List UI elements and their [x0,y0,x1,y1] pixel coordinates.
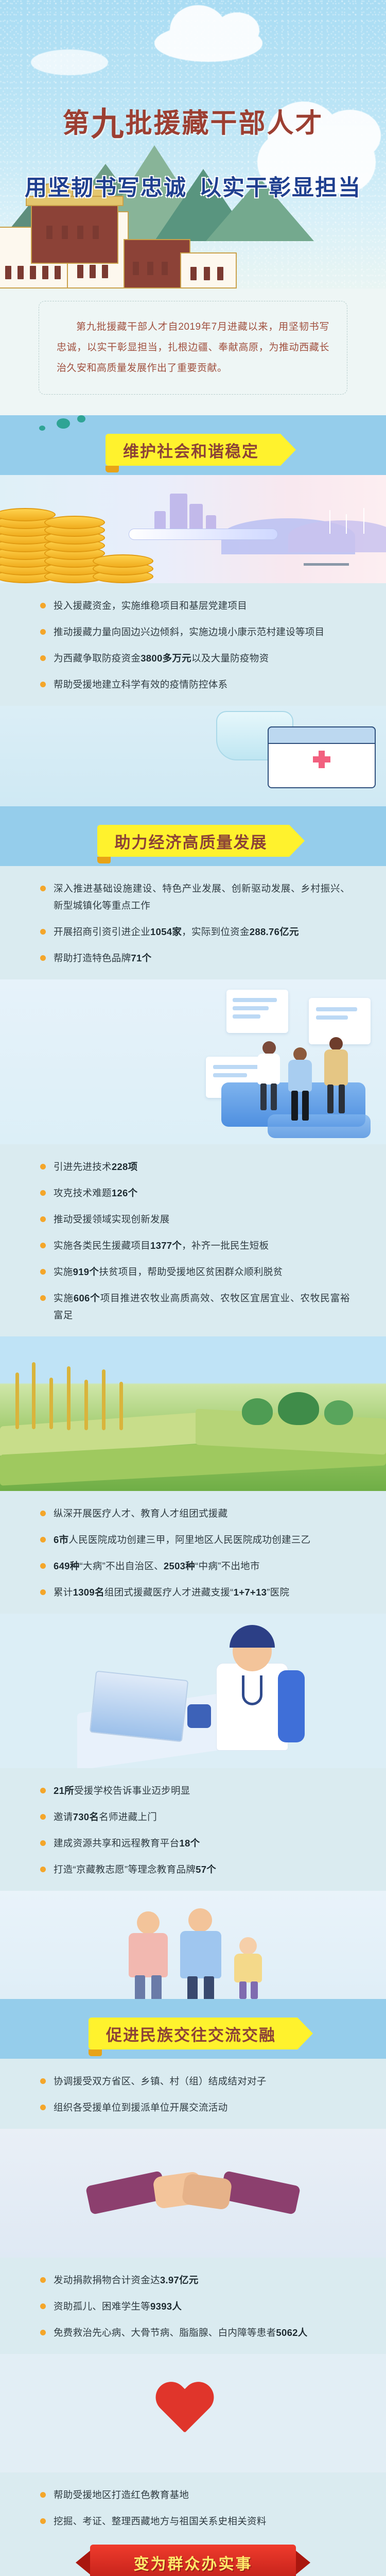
subtitle-right: 以实干彰显担当 [199,176,361,200]
title-rest: 批援藏干部人才 [126,109,324,139]
list-item: 协调援受双方省区、乡镇、村（组）结成结对对子 [36,2068,350,2094]
list-economy-b: 引进先进技术228项 攻克技术难题126个 推动受援领域实现创新发展 实施各类民… [36,1146,350,1331]
list-item: 挖掘、考证、整理西藏地方与祖国关系史相关资料 [36,2508,350,2534]
red-ribbon-label: 变为群众办实事 [134,2551,253,2574]
list-item: 为西藏争取防疫资金3800多万元以及大量防疫物资 [36,645,350,671]
section-banner-social-stability: 维护社会和谐稳定 [106,434,280,466]
panel-ethnic-unity-b: 发动捐款捐物合计资金达3.97亿元 资助孤儿、困难学生等9393人 免费救治先心… [0,2258,386,2354]
list-item: 实施各类民生援藏项目1377个，补齐一批民生短板 [36,1232,350,1259]
list-item: 投入援藏资金，实施维稳项目和基层党建项目 [36,592,350,619]
panel-ethnic-unity-a: 协调援受双方省区、乡镇、村（组）结成结对对子 组织各受援单位到援派单位开展交流活… [0,2059,386,2129]
red-heart-illustration [0,2354,386,2472]
list-ethnic-unity-b: 发动捐款捐物合计资金达3.97亿元 资助孤儿、困难学生等9393人 免费救治先心… [36,2260,350,2349]
panel-economy-a: 深入推进基础设施建设、特色产业发展、创新驱动发展、乡村振兴、新型城镇化等重点工作… [0,866,386,979]
list-item: 649种“大病”不出自治区、2503种“中病”不出地市 [36,1553,350,1579]
page-subtitle: 用坚韧书写忠诚以实干彰显担当 [0,170,386,202]
handshake-illustration [0,2129,386,2258]
list-item: 实施606个项目推进农牧业高质高效、农牧区宜居宜业、农牧民富裕富足 [36,1285,350,1328]
medical-kit-illustration [0,706,386,806]
list-economy-health: 纵深开展医疗人才、教育人才组团式援藏 6市人民医院成功创建三甲，阿里地区人民医院… [36,1493,350,1608]
coins-city-illustration [0,475,386,583]
list-item: 推动援藏力量向固边兴边倾斜，实施边境小康示范村建设等项目 [36,619,350,645]
list-item: 引进先进技术228项 [36,1154,350,1180]
list-item: 推动受援领域实现创新发展 [36,1206,350,1232]
list-item: 打造“京藏教志愿”等理念教育品牌57个 [36,1856,350,1883]
panel-economy-b: 引进先进技术228项 攻克技术难题126个 推动受援领域实现创新发展 实施各类民… [0,1144,386,1336]
panel-social-stability: 投入援藏资金，实施维稳项目和基层党建项目 推动援藏力量向固边兴边倾斜，实施边境小… [0,583,386,706]
section-banner-label: 维护社会和谐稳定 [123,438,259,462]
list-item: 深入推进基础设施建设、特色产业发展、创新驱动发展、乡村振兴、新型城镇化等重点工作 [36,875,350,919]
list-item: 攻克技术难题126个 [36,1180,350,1206]
intro-paragraph: 第九批援藏干部人才自2019年7月进藏以来，用坚韧书写忠诚，以实干彰显担当，扎根… [39,301,347,395]
title-prefix: 第 [62,109,91,139]
panel-ethnic-unity-c: 帮助受援地区打造红色教育基地 挖掘、考证、整理西藏地方与祖国关系史相关资料 变为… [0,2472,386,2576]
doctor-illustration [0,1614,386,1768]
list-item: 6市人民医院成功创建三甲，阿里地区人民医院成功创建三乙 [36,1527,350,1553]
section-banner-economy: 助力经济高质量发展 [97,825,289,857]
cloud-icon [31,49,108,75]
farmland-illustration [0,1336,386,1491]
page-title: 第九批援藏干部人才 [0,98,386,145]
red-ribbon-banner: 变为群众办实事 [90,2545,296,2576]
list-ethnic-unity-a: 协调援受双方省区、乡镇、村（组）结成结对对子 组织各受援单位到援派单位开展交流活… [36,2061,350,2124]
panel-economy-health: 纵深开展医疗人才、教育人才组团式援藏 6市人民医院成功创建三甲，阿里地区人民医院… [0,1491,386,1614]
list-item: 纵深开展医疗人才、教育人才组团式援藏 [36,1500,350,1527]
heart-icon [154,2383,215,2438]
infographic-page: 第九批援藏干部人才 用坚韧书写忠诚以实干彰显担当 第九批援藏干部人才自2019年… [0,0,386,2576]
family-illustration [0,1891,386,1999]
list-item: 累计1309名组团式援藏医疗人才进藏支援“1+7+13”医院 [36,1579,350,1605]
list-item: 邀请730名名师进藏上门 [36,1804,350,1830]
section-banner-ethnic-unity: 促进民族交往交流交融 [89,2018,297,2049]
cloud-icon [154,25,262,62]
section-band-social-stability: 维护社会和谐稳定 [0,415,386,475]
list-item: 帮助受援地区打造红色教育基地 [36,2482,350,2508]
list-item: 开展招商引资引进企业1054家，实际到位资金288.76亿元 [36,919,350,945]
section-band-ethnic-unity: 促进民族交往交流交融 [0,1999,386,2059]
list-item: 21所受援学校告诉事业迈步明显 [36,1777,350,1804]
list-ethnic-unity-c: 帮助受援地区打造红色教育基地 挖掘、考证、整理西藏地方与祖国关系史相关资料 [36,2475,350,2537]
list-item: 实施919个扶贫项目，帮助受援地区贫困群众顺利脱贫 [36,1259,350,1285]
list-item: 帮助打造特色品牌71个 [36,945,350,971]
intro-section: 第九批援藏干部人才自2019年7月进藏以来，用坚韧书写忠诚，以实干彰显担当，扎根… [0,289,386,415]
list-social-stability: 投入援藏资金，实施维稳项目和基层党建项目 推动援藏力量向固边兴边倾斜，实施边境小… [36,585,350,701]
list-item: 发动捐款捐物合计资金达3.97亿元 [36,2267,350,2293]
office-people-illustration [0,979,386,1144]
section-band-economy: 助力经济高质量发展 [0,806,386,866]
list-item: 组织各受援单位到援派单位开展交流活动 [36,2094,350,2121]
subtitle-left: 用坚韧书写忠诚 [25,176,187,200]
list-item: 资助孤儿、困难学生等9393人 [36,2293,350,2319]
list-item: 帮助受援地建立科学有效的疫情防控体系 [36,671,350,698]
list-item: 免费救治先心病、大骨节病、脂脂腺、白内障等患者5062人 [36,2319,350,2346]
hero-header: 第九批援藏干部人才 用坚韧书写忠诚以实干彰显担当 [0,0,386,289]
section-banner-label: 助力经济高质量发展 [115,829,268,853]
list-economy-a: 深入推进基础设施建设、特色产业发展、创新驱动发展、乡村振兴、新型城镇化等重点工作… [36,868,350,974]
list-economy-education: 21所受援学校告诉事业迈步明显 邀请730名名师进藏上门 建成资源共享和远程教育… [36,1770,350,1886]
list-item: 建成资源共享和远程教育平台18个 [36,1830,350,1856]
section-banner-label: 促进民族交往交流交融 [106,2022,276,2045]
title-big-char: 九 [91,106,126,143]
panel-economy-education: 21所受援学校告诉事业迈步明显 邀请730名名师进藏上门 建成资源共享和远程教育… [0,1768,386,1891]
